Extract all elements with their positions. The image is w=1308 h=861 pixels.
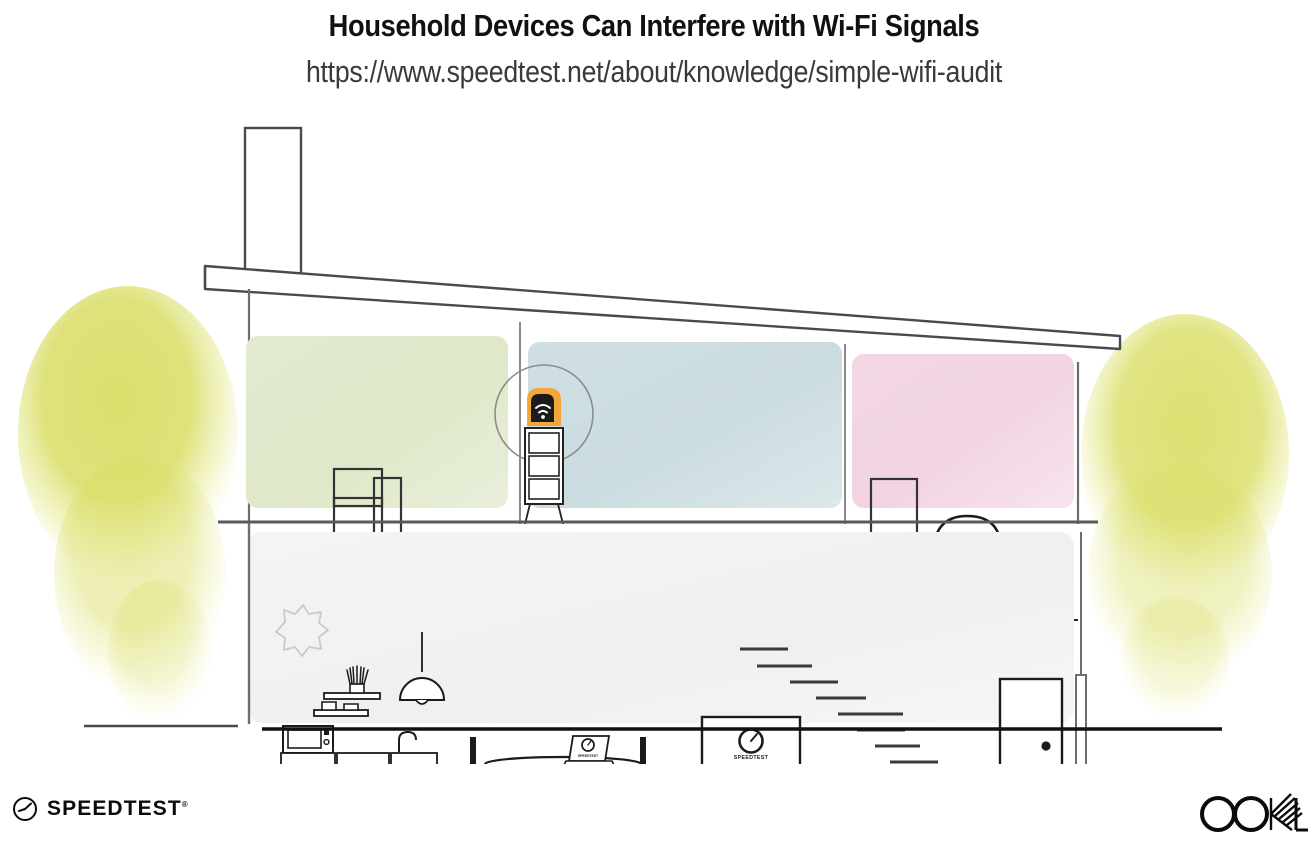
- speedtest-logo: SPEEDTEST®: [12, 796, 188, 822]
- source-url: https://www.speedtest.net/about/knowledg…: [92, 44, 1217, 90]
- kitchen-faucet: [399, 732, 416, 752]
- footer: SPEEDTEST®: [0, 778, 1308, 861]
- page-title: Household Devices Can Interfere with Wi-…: [78, 0, 1229, 44]
- speedtest-gauge-icon: [12, 796, 38, 822]
- dining-table: [485, 757, 641, 764]
- kitchen-cabinets: [281, 753, 437, 764]
- speedtest-trademark: ®: [182, 800, 188, 809]
- foliage-right: [1081, 314, 1289, 721]
- ookla-logo: [1196, 792, 1308, 841]
- speedtest-wordmark: SPEEDTEST®: [47, 797, 188, 821]
- foliage-left: [18, 286, 238, 724]
- front-door[interactable]: [1000, 679, 1062, 764]
- tv-screen-label: SPEEDTEST: [734, 755, 769, 761]
- house-cutaway-illustration: SPEEDTEST: [0, 104, 1308, 764]
- infographic-page: Household Devices Can Interfere with Wi-…: [0, 0, 1308, 861]
- door-knob-icon: [1041, 741, 1050, 750]
- dresser: [525, 428, 563, 524]
- television-speedtest[interactable]: SPEEDTEST: [702, 717, 800, 764]
- laptop-screen-label: SPEEDTEST: [578, 754, 599, 758]
- wifi-router[interactable]: [527, 388, 561, 426]
- header: Household Devices Can Interfere with Wi-…: [0, 0, 1308, 90]
- chimney: [245, 128, 301, 284]
